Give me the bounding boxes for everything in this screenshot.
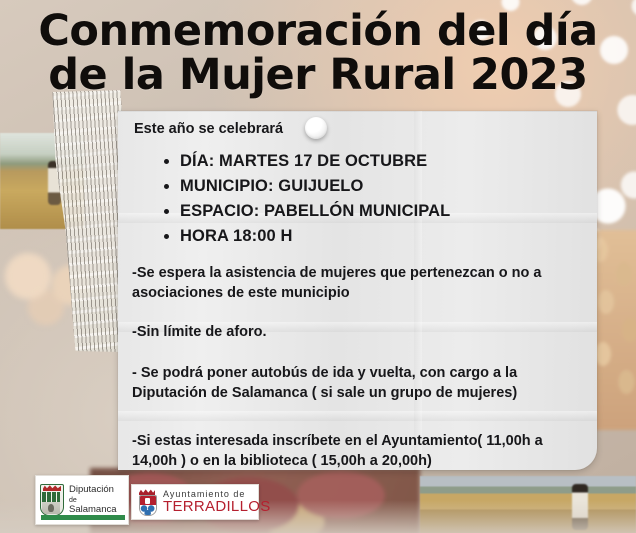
terradillos-crest-icon	[137, 489, 157, 515]
diputacion-line-2: de Salamanca	[69, 495, 124, 515]
poster-title: Conmemoración del día de la Mujer Rural …	[0, 10, 636, 98]
ayuntamiento-de-terradillos-logo: Ayuntamiento de TERRADILLOS	[131, 484, 259, 520]
pin-icon	[305, 117, 327, 139]
diputacion-line-1: Diputación	[69, 485, 124, 495]
crown-icon	[43, 485, 61, 491]
paragraph-bus: - Se podrá poner autobús de ida y vuelta…	[132, 363, 590, 403]
list-item: MUNICIPIO: GUIJUELO	[180, 174, 450, 199]
title-line-2: de la Mujer Rural 2023	[0, 54, 636, 98]
shield-quarters	[42, 492, 60, 502]
poster-canvas: Conmemoración del día de la Mujer Rural …	[0, 0, 636, 533]
paragraph-capacity: -Sin límite de aforo.	[132, 322, 590, 342]
crest-lower-field	[140, 505, 156, 515]
title-line-1: Conmemoración del día	[38, 6, 597, 56]
ayuntamiento-line-2: TERRADILLOS	[163, 499, 271, 514]
shield-lower	[42, 502, 60, 514]
event-details-list: DÍA: MARTES 17 DE OCTUBRE MUNICIPIO: GUI…	[158, 149, 450, 249]
list-item: DÍA: MARTES 17 DE OCTUBRE	[180, 149, 450, 174]
ayuntamiento-wordmark: Ayuntamiento de TERRADILLOS	[163, 490, 271, 514]
paragraph-attendance: -Se espera la asistencia de mujeres que …	[132, 263, 590, 303]
diputacion-de: de	[69, 497, 77, 504]
diputacion-wordmark: Diputación de Salamanca	[69, 485, 124, 515]
list-item: HORA 18:00 H	[180, 224, 450, 249]
diputacion-salamanca: Salamanca	[69, 504, 117, 515]
diputacion-de-salamanca-logo: Diputación de Salamanca	[35, 475, 129, 525]
crest-upper-field	[140, 496, 156, 505]
intro-text: Este año se celebrará	[134, 121, 283, 137]
paragraph-registration: -Si estas interesada inscríbete en el Ay…	[132, 431, 590, 471]
salamanca-shield-icon	[40, 484, 64, 516]
paper-sheet: Este año se celebrará DÍA: MARTES 17 DE …	[118, 111, 597, 470]
crest-body	[139, 495, 157, 516]
diputacion-green-bar	[41, 515, 125, 520]
paper-content: Este año se celebrará DÍA: MARTES 17 DE …	[118, 111, 597, 470]
list-item: ESPACIO: PABELLÓN MUNICIPAL	[180, 199, 450, 224]
